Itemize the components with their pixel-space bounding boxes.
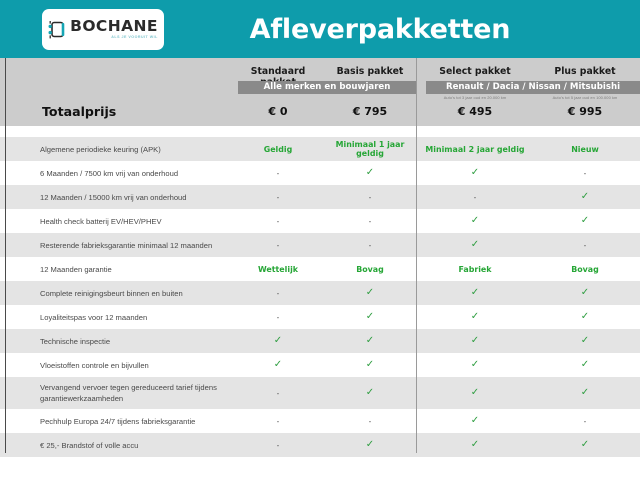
cell-basis: -	[324, 217, 416, 226]
header-body-spacer	[0, 126, 640, 137]
feature-label: Technische inspectie	[0, 336, 232, 347]
page-title: Afleverpakketten	[0, 14, 640, 45]
cell-standaard: -	[232, 169, 324, 178]
feature-rows: Algemene periodieke keuring (APK)GeldigM…	[0, 137, 640, 457]
feature-label: 12 Maanden garantie	[0, 264, 232, 275]
dash-icon: -	[277, 193, 280, 202]
cell-plus: ✓	[530, 440, 640, 450]
cell-basis: -	[324, 193, 416, 202]
table-row: € 25,- Brandstof of volle accu-✓✓✓	[0, 433, 640, 457]
cell-basis: Minimaal 1 jaar geldig	[324, 140, 416, 158]
cell-plus: Nieuw	[530, 145, 640, 154]
dash-icon: -	[584, 241, 587, 250]
table-row: Technische inspectie✓✓✓✓	[0, 329, 640, 353]
cell-plus: ✓	[530, 192, 640, 202]
table-row: Algemene periodieke keuring (APK)GeldigM…	[0, 137, 640, 161]
check-icon: ✓	[581, 359, 589, 370]
table-row: Vloeistoffen controle en bijvullen✓✓✓✓	[0, 353, 640, 377]
dash-icon: -	[369, 217, 372, 226]
feature-label: € 25,- Brandstof of volle accu	[0, 440, 232, 451]
cell-plus: ✓	[530, 312, 640, 322]
cell-select: ✓	[420, 360, 530, 370]
check-icon: ✓	[274, 359, 282, 370]
table-row: Complete reinigingsbeurt binnen en buite…	[0, 281, 640, 305]
cell-basis: ✓	[324, 312, 416, 322]
table-row: Vervangend vervoer tegen gereduceerd tar…	[0, 377, 640, 409]
dash-icon: -	[584, 417, 587, 426]
cell-plus: -	[530, 169, 640, 178]
check-icon: ✓	[471, 215, 479, 226]
cell-plus: -	[530, 417, 640, 426]
feature-label: Loyaliteitspas voor 12 maanden	[0, 312, 232, 323]
package-note-plus: Auto's tot 5 jaar oud en 100.000 km	[530, 95, 640, 100]
cell-plus: ✓	[530, 336, 640, 346]
cell-plus: ✓	[530, 288, 640, 298]
check-icon: ✓	[471, 335, 479, 346]
cell-standaard: ✓	[232, 360, 324, 370]
dash-icon: -	[369, 241, 372, 250]
dash-icon: -	[277, 169, 280, 178]
table-footer-strip	[0, 457, 640, 483]
cell-select: ✓	[420, 416, 530, 426]
check-icon: ✓	[581, 191, 589, 202]
check-icon: ✓	[366, 387, 374, 398]
table-row: 12 Maanden / 15000 km vrij van onderhoud…	[0, 185, 640, 209]
cell-basis: ✓	[324, 360, 416, 370]
dash-icon: -	[277, 217, 280, 226]
dash-icon: -	[277, 289, 280, 298]
cell-plus: -	[530, 241, 640, 250]
check-icon: ✓	[471, 387, 479, 398]
dash-icon: -	[277, 389, 280, 398]
price-select: € 495	[420, 103, 530, 120]
cell-basis: ✓	[324, 388, 416, 398]
check-icon: ✓	[471, 287, 479, 298]
dash-icon: -	[277, 313, 280, 322]
table-row: Resterende fabrieksgarantie minimaal 12 …	[0, 233, 640, 257]
cell-select: ✓	[420, 288, 530, 298]
check-icon: ✓	[581, 439, 589, 450]
cell-standaard: -	[232, 389, 324, 398]
dash-icon: -	[277, 417, 280, 426]
cell-basis: Bovag	[324, 265, 416, 274]
cell-standaard: Geldig	[232, 145, 324, 154]
cell-standaard: -	[232, 441, 324, 450]
cell-select: Minimaal 2 jaar geldig	[420, 145, 530, 154]
totaalprijs-label: Totaalprijs	[0, 103, 232, 120]
cell-select: ✓	[420, 336, 530, 346]
comparison-table: Standaard pakket Basis pakket Select pak…	[0, 58, 640, 453]
cell-standaard: Wettelijk	[232, 265, 324, 274]
price-row: Totaalprijs € 0 € 795 € 495 € 995	[0, 103, 640, 120]
feature-label: 6 Maanden / 7500 km vrij van onderhoud	[0, 168, 232, 179]
check-icon: ✓	[581, 287, 589, 298]
table-row: Health check batterij EV/HEV/PHEV--✓✓	[0, 209, 640, 233]
cell-select: ✓	[420, 388, 530, 398]
check-icon: ✓	[471, 439, 479, 450]
check-icon: ✓	[581, 387, 589, 398]
cell-basis: ✓	[324, 336, 416, 346]
check-icon: ✓	[471, 359, 479, 370]
table-row: Loyaliteitspas voor 12 maanden-✓✓✓	[0, 305, 640, 329]
check-icon: ✓	[366, 167, 374, 178]
price-standaard: € 0	[232, 103, 324, 120]
cell-standaard: -	[232, 313, 324, 322]
cell-plus: Bovag	[530, 265, 640, 274]
cell-basis: -	[324, 241, 416, 250]
check-icon: ✓	[581, 311, 589, 322]
cell-plus: ✓	[530, 388, 640, 398]
check-icon: ✓	[471, 415, 479, 426]
table-row: 12 Maanden garantieWettelijkBovagFabriek…	[0, 257, 640, 281]
feature-label: Resterende fabrieksgarantie minimaal 12 …	[0, 240, 232, 251]
cell-standaard: -	[232, 417, 324, 426]
cell-basis: ✓	[324, 440, 416, 450]
cell-basis: ✓	[324, 168, 416, 178]
left-border-rule	[5, 58, 6, 453]
cell-standaard: ✓	[232, 336, 324, 346]
dash-icon: -	[474, 193, 477, 202]
dash-icon: -	[369, 417, 372, 426]
feature-label: 12 Maanden / 15000 km vrij van onderhoud	[0, 192, 232, 203]
dash-icon: -	[277, 441, 280, 450]
dash-icon: -	[584, 169, 587, 178]
cell-select: ✓	[420, 312, 530, 322]
cell-plus: ✓	[530, 216, 640, 226]
cell-select: ✓	[420, 440, 530, 450]
check-icon: ✓	[581, 215, 589, 226]
price-plus: € 995	[530, 103, 640, 120]
check-icon: ✓	[366, 439, 374, 450]
check-icon: ✓	[366, 287, 374, 298]
dash-icon: -	[277, 241, 280, 250]
cell-standaard: -	[232, 289, 324, 298]
check-icon: ✓	[366, 311, 374, 322]
dash-icon: -	[369, 193, 372, 202]
table-header: Standaard pakket Basis pakket Select pak…	[0, 58, 640, 126]
page-header: BOCHANE ALS JE VOORUIT WIL Afleverpakket…	[0, 0, 640, 58]
cell-select: -	[420, 193, 530, 202]
brand-bar-right: Renault / Dacia / Nissan / Mitsubishi	[426, 81, 640, 94]
feature-label: Algemene periodieke keuring (APK)	[0, 144, 232, 155]
price-basis: € 795	[324, 103, 416, 120]
feature-label: Health check batterij EV/HEV/PHEV	[0, 216, 232, 227]
cell-select: Fabriek	[420, 265, 530, 274]
cell-standaard: -	[232, 193, 324, 202]
cell-plus: ✓	[530, 360, 640, 370]
feature-label: Vloeistoffen controle en bijvullen	[0, 360, 232, 371]
cell-standaard: -	[232, 241, 324, 250]
check-icon: ✓	[366, 335, 374, 346]
table-row: Pechhulp Europa 24/7 tijdens fabrieksgar…	[0, 409, 640, 433]
table-row: 6 Maanden / 7500 km vrij van onderhoud-✓…	[0, 161, 640, 185]
check-icon: ✓	[274, 335, 282, 346]
package-group-divider	[416, 58, 417, 453]
package-note-select: Auto's tot 3 jaar oud en 20.000 km	[420, 95, 530, 100]
check-icon: ✓	[471, 239, 479, 250]
cell-select: ✓	[420, 168, 530, 178]
check-icon: ✓	[581, 335, 589, 346]
check-icon: ✓	[471, 311, 479, 322]
feature-label: Pechhulp Europa 24/7 tijdens fabrieksgar…	[0, 416, 232, 427]
feature-label: Complete reinigingsbeurt binnen en buite…	[0, 288, 232, 299]
cell-select: ✓	[420, 216, 530, 226]
cell-standaard: -	[232, 217, 324, 226]
brand-bar-left: Alle merken en bouwjaren	[238, 81, 416, 94]
cell-basis: -	[324, 417, 416, 426]
check-icon: ✓	[366, 359, 374, 370]
cell-basis: ✓	[324, 288, 416, 298]
check-icon: ✓	[471, 167, 479, 178]
package-note-row: Auto's tot 3 jaar oud en 20.000 km Auto'…	[0, 95, 640, 100]
feature-label: Vervangend vervoer tegen gereduceerd tar…	[0, 382, 232, 404]
brand-bar-row: Alle merken en bouwjaren Renault / Dacia…	[0, 81, 640, 94]
cell-select: ✓	[420, 240, 530, 250]
